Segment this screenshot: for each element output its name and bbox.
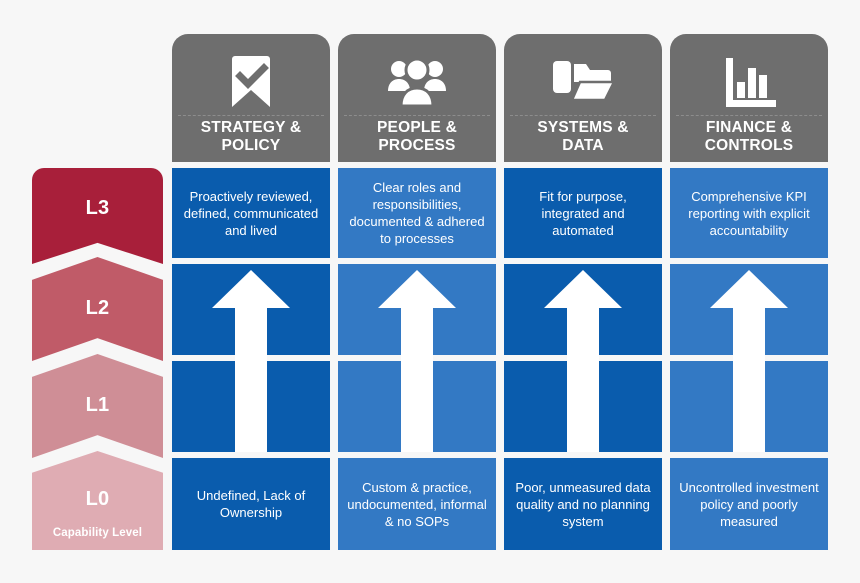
cell-systems-data-l1[interactable] bbox=[504, 361, 662, 452]
capability-level-band-l2[interactable]: L2 bbox=[32, 257, 163, 361]
capability-maturity-matrix: L3 L2 L1 L0 Capability Level STRATEGY & … bbox=[0, 0, 860, 583]
column-header-strategy-policy[interactable]: STRATEGY & POLICY bbox=[172, 34, 330, 162]
column-title-people-process: PEOPLE & PROCESS bbox=[338, 119, 496, 155]
column-title-line1: SYSTEMS & bbox=[537, 119, 628, 136]
cell-strategy-policy-l0[interactable]: Undefined, Lack of Ownership bbox=[172, 458, 330, 550]
cell-finance-controls-l1[interactable] bbox=[670, 361, 828, 452]
capability-level-caption: Capability Level bbox=[32, 527, 163, 539]
cell-text: Proactively reviewed, defined, communica… bbox=[178, 188, 324, 239]
column-header-finance-controls[interactable]: FINANCE & CONTROLS bbox=[670, 34, 828, 162]
column-title-finance-controls: FINANCE & CONTROLS bbox=[670, 119, 828, 155]
cell-people-process-l0[interactable]: Custom & practice, undocumented, informa… bbox=[338, 458, 496, 550]
cell-finance-controls-l0[interactable]: Uncontrolled investment policy and poorl… bbox=[670, 458, 828, 550]
column-title-line2: CONTROLS bbox=[705, 137, 794, 154]
cell-text: Undefined, Lack of Ownership bbox=[178, 487, 324, 521]
header-divider bbox=[510, 115, 656, 116]
capability-level-label-l0: L0 bbox=[32, 488, 163, 511]
column-header-systems-data[interactable]: SYSTEMS & DATA bbox=[504, 34, 662, 162]
header-divider bbox=[676, 115, 822, 116]
capability-level-band-l3[interactable]: L3 bbox=[32, 168, 163, 264]
cell-text: Fit for purpose, integrated and automate… bbox=[510, 188, 656, 239]
column-title-line1: PEOPLE & bbox=[377, 119, 457, 136]
cell-text: Clear roles and responsibilities, docume… bbox=[344, 179, 490, 247]
header-divider bbox=[178, 115, 324, 116]
column-title-line1: STRATEGY & bbox=[201, 119, 301, 136]
header-divider bbox=[344, 115, 490, 116]
capability-level-band-l0[interactable]: L0 Capability Level bbox=[32, 451, 163, 550]
cell-systems-data-l2[interactable] bbox=[504, 264, 662, 355]
capability-level-label-l1: L1 bbox=[32, 394, 163, 417]
column-title-strategy-policy: STRATEGY & POLICY bbox=[172, 119, 330, 155]
cell-systems-data-l3[interactable]: Fit for purpose, integrated and automate… bbox=[504, 168, 662, 258]
cell-text: Uncontrolled investment policy and poorl… bbox=[676, 479, 822, 530]
cell-finance-controls-l2[interactable] bbox=[670, 264, 828, 355]
cell-strategy-policy-l2[interactable] bbox=[172, 264, 330, 355]
cell-finance-controls-l3[interactable]: Comprehensive KPI reporting with explici… bbox=[670, 168, 828, 258]
cell-text: Poor, unmeasured data quality and no pla… bbox=[510, 479, 656, 530]
cell-systems-data-l0[interactable]: Poor, unmeasured data quality and no pla… bbox=[504, 458, 662, 550]
capability-level-label-l2: L2 bbox=[32, 297, 163, 320]
column-title-line2: POLICY bbox=[222, 137, 281, 154]
people-group-icon bbox=[338, 46, 496, 118]
capability-level-band-l1[interactable]: L1 bbox=[32, 354, 163, 458]
column-title-systems-data: SYSTEMS & DATA bbox=[504, 119, 662, 155]
column-title-line2: PROCESS bbox=[378, 137, 455, 154]
column-title-line2: DATA bbox=[562, 137, 604, 154]
column-title-line1: FINANCE & bbox=[706, 119, 792, 136]
capability-level-label-l3: L3 bbox=[32, 197, 163, 220]
column-header-people-process[interactable]: PEOPLE & PROCESS bbox=[338, 34, 496, 162]
cell-people-process-l3[interactable]: Clear roles and responsibilities, docume… bbox=[338, 168, 496, 258]
folders-icon bbox=[504, 46, 662, 118]
cell-text: Custom & practice, undocumented, informa… bbox=[344, 479, 490, 530]
bar-chart-icon bbox=[670, 46, 828, 118]
checked-bookmark-icon bbox=[172, 46, 330, 118]
cell-text: Comprehensive KPI reporting with explici… bbox=[676, 188, 822, 239]
cell-strategy-policy-l1[interactable] bbox=[172, 361, 330, 452]
cell-strategy-policy-l3[interactable]: Proactively reviewed, defined, communica… bbox=[172, 168, 330, 258]
cell-people-process-l1[interactable] bbox=[338, 361, 496, 452]
cell-people-process-l2[interactable] bbox=[338, 264, 496, 355]
capability-level-rail: L3 L2 L1 L0 Capability Level bbox=[32, 168, 163, 550]
